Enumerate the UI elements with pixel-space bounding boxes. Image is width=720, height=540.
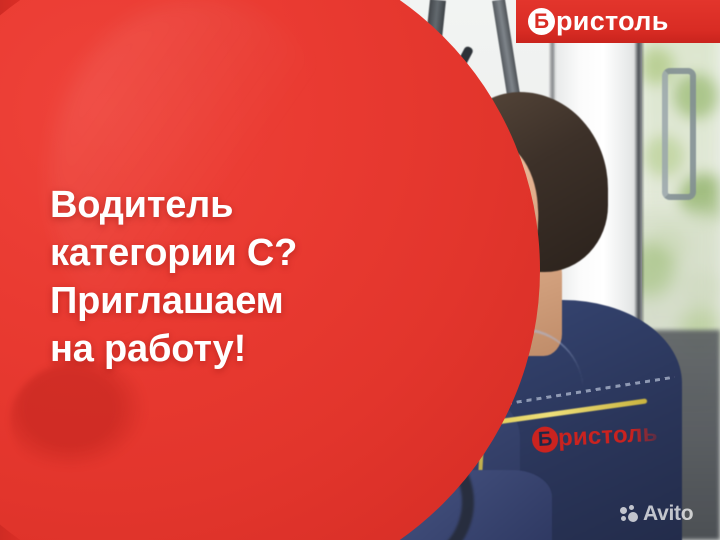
circle-shadow-detail	[10, 360, 160, 480]
uniform-monogram-icon: Б	[531, 426, 558, 453]
uniform-wordmark: ристоль	[557, 422, 658, 451]
avito-wordmark: Avito	[643, 503, 693, 524]
headline: Водитель категории С? Приглашаем на рабо…	[50, 182, 380, 374]
brand-wordmark: ристоль	[556, 8, 669, 35]
job-ad-banner: Водитель категории С? Приглашаем на рабо…	[0, 0, 720, 540]
headline-line-1: Водитель	[50, 182, 380, 230]
avito-dots-icon	[620, 505, 639, 522]
headline-line-3: Приглашаем	[50, 278, 380, 326]
brand-logo-banner: Б ристоль	[516, 0, 720, 43]
brand-monogram-icon: Б	[528, 8, 555, 35]
headline-line-2: категории С?	[50, 230, 380, 278]
headline-line-4: на работу!	[50, 326, 380, 374]
avito-watermark: Avito	[620, 503, 693, 524]
